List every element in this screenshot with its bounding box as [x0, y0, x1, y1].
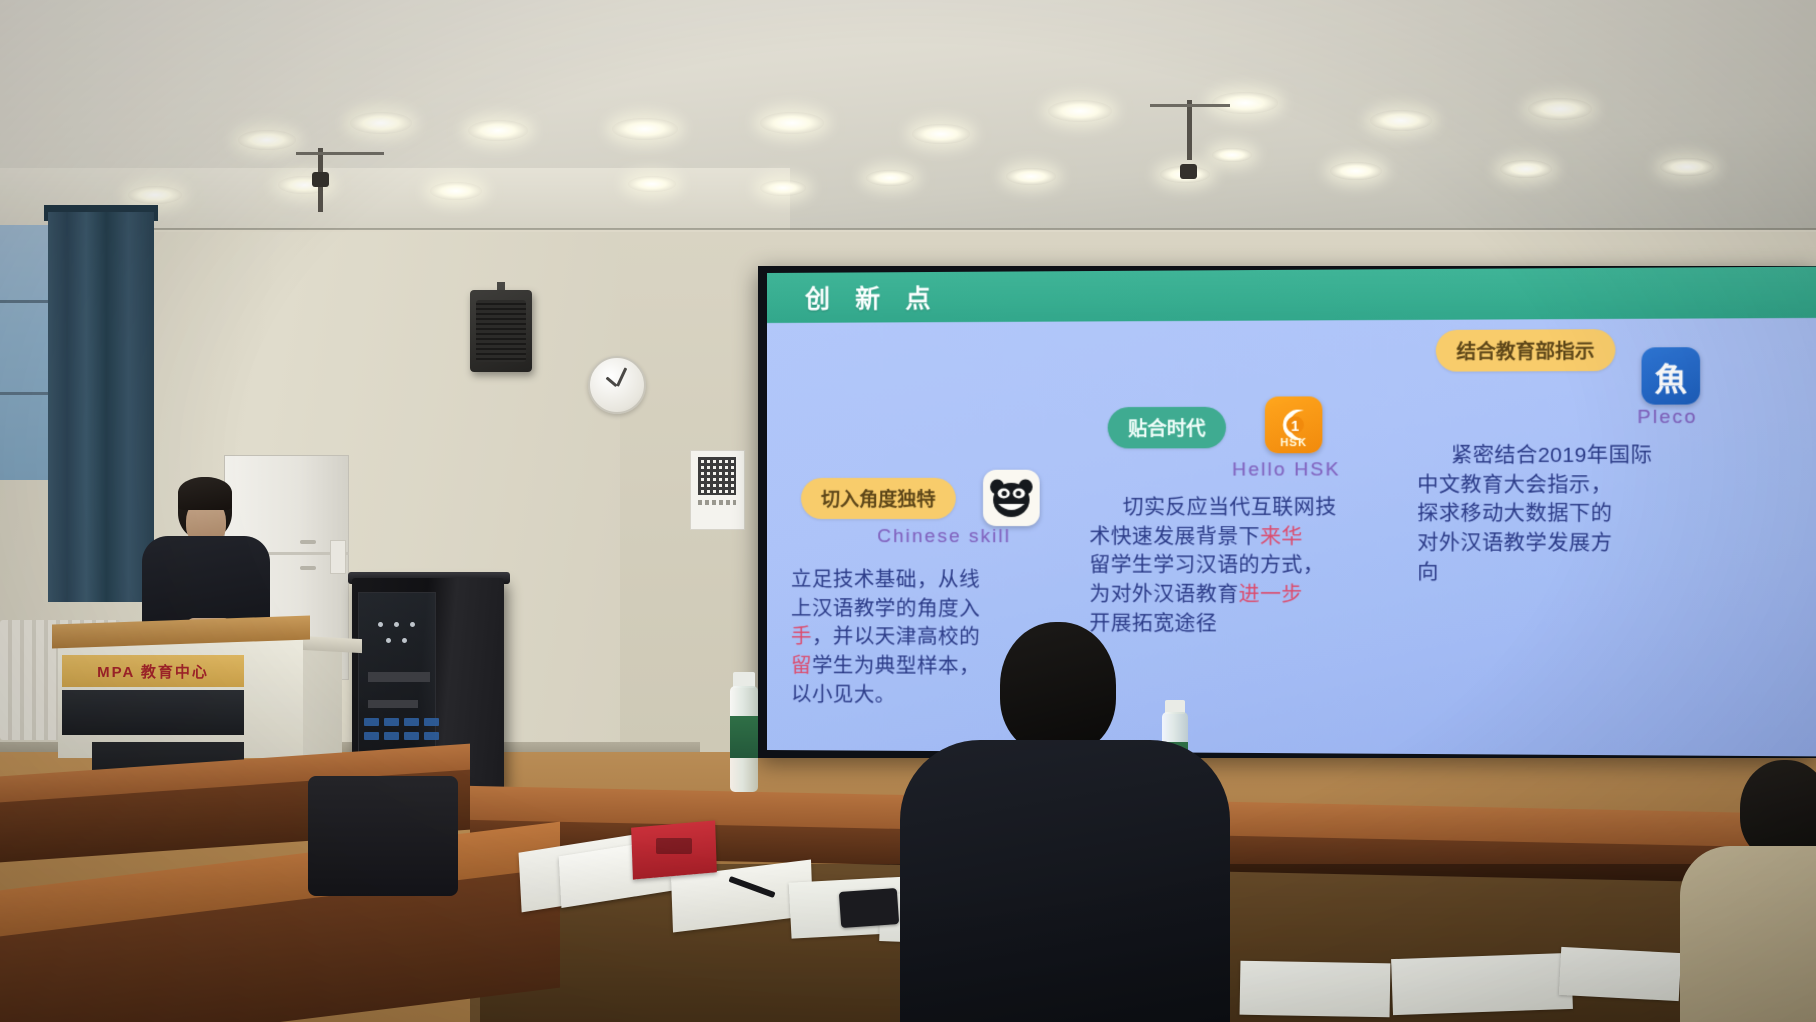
rack-button-4[interactable]: [424, 718, 439, 726]
papers-right-3: [1559, 947, 1681, 1001]
column-2-badge: 贴合时代: [1108, 407, 1226, 449]
rack-button-6[interactable]: [384, 732, 399, 740]
ceiling-light-22: [1660, 158, 1714, 176]
slide-column-2: 贴合时代 1 HSK Hello HSK 切实反应当代互联网技 术快速发展背景下…: [1089, 396, 1396, 639]
ceiling-light-6: [912, 124, 970, 144]
lecture-hall-scene: MPA 教育中心 创 新 点 切入角度独特: [0, 0, 1816, 1022]
rack-device-slot-2: [368, 700, 418, 708]
ceiling-light-10: [1528, 98, 1592, 120]
column-1-badge: 切入角度独特: [801, 478, 956, 519]
presenter-hair-top: [178, 477, 232, 510]
rack-led-2: [394, 622, 399, 627]
column-3-app-label: Pleco: [1637, 407, 1697, 430]
rack-led-1: [378, 622, 383, 627]
panda-app-icon: [983, 470, 1040, 526]
ceiling-light-12: [128, 186, 182, 204]
ceiling-light-2: [350, 112, 412, 134]
clock-hour-hand: [606, 376, 618, 387]
hsk-app-icon: 1 HSK: [1265, 396, 1322, 453]
ceiling-light-4: [612, 118, 678, 140]
rack-button-2[interactable]: [384, 718, 399, 726]
presentation-slide: 创 新 点 切入角度独特: [767, 266, 1816, 756]
ceiling-light-18: [1006, 168, 1056, 185]
ceiling-light-14: [430, 182, 482, 200]
ceiling-light-11: [1212, 148, 1252, 162]
attendee-center-torso: [900, 740, 1230, 1022]
projector-mount-arm-right: [1150, 104, 1230, 107]
clock-minute-hand: [616, 367, 627, 386]
pleco-icon-glyph: 魚: [1655, 353, 1687, 399]
qr-code-icon: [698, 457, 736, 495]
rack-button-7[interactable]: [404, 732, 419, 740]
slide-column-3: 结合教育部指示 魚 Pleco 紧密结合2019年国际 中文教育大会指示， 探求…: [1417, 318, 1740, 588]
attendee-center-head: [1000, 622, 1116, 754]
rack-button-1[interactable]: [364, 718, 379, 726]
svg-text:HSK: HSK: [1280, 437, 1307, 449]
name-card-text: [656, 838, 692, 854]
ceiling-light-9: [1370, 110, 1432, 131]
projector-mount-arm-left: [296, 152, 384, 155]
slide-title-banner: 创 新 点: [767, 266, 1816, 323]
column-3-badge: 结合教育部指示: [1436, 329, 1616, 372]
podium-plaque: MPA 教育中心: [62, 655, 244, 687]
ceiling-light-7: [1048, 100, 1112, 122]
column-1-app-label: Chinese skill: [877, 526, 1011, 548]
ceiling-light-1: [238, 130, 296, 150]
rack-device-slot-1: [368, 672, 430, 682]
projector-mount-head-right: [1180, 164, 1197, 179]
svg-text:1: 1: [1291, 418, 1299, 434]
ceiling-light-3: [468, 120, 528, 141]
rack-led-3: [410, 622, 415, 627]
cabinet-handle-upper[interactable]: [300, 540, 316, 544]
chair-left[interactable]: [308, 776, 458, 896]
projection-screen: 创 新 点 切入角度独特: [758, 266, 1816, 758]
qr-poster-caption: [698, 500, 736, 505]
ceiling-light-21: [1500, 160, 1552, 178]
ceiling-light-20: [1330, 162, 1382, 180]
projector-mount-pole-right: [1187, 100, 1192, 160]
ceiling-light-16: [760, 180, 806, 196]
curtain: [48, 212, 154, 602]
ceiling-light-5: [760, 112, 824, 134]
ceiling-light-15: [628, 176, 676, 192]
pleco-app-icon: 魚: [1642, 347, 1701, 404]
ceiling-light-8: [1212, 92, 1278, 114]
rack-led-5: [402, 638, 407, 643]
rack-button-8[interactable]: [424, 732, 439, 740]
papers-right-2: [1240, 961, 1391, 1018]
column-2-app-label: Hello HSK: [1232, 459, 1340, 481]
rack-button-3[interactable]: [404, 718, 419, 726]
ceiling-light-17: [866, 170, 914, 186]
podium-plaque-text: MPA 教育中心: [97, 661, 209, 682]
rack-button-5[interactable]: [364, 732, 379, 740]
speaker-grille: [476, 300, 526, 362]
wall-clock: [588, 356, 646, 414]
bottle-label-left: [730, 716, 758, 758]
rack-led-4: [386, 638, 391, 643]
slide-title: 创 新 点: [805, 279, 940, 316]
column-3-body: 紧密结合2019年国际 中文教育大会指示， 探求移动大数据下的 对外汉语教学发展…: [1417, 441, 1740, 588]
cabinet-label: [330, 540, 346, 574]
attendee-right-torso: [1680, 846, 1816, 1022]
smartphone[interactable]: [839, 888, 899, 928]
podium-front-panel: [62, 690, 244, 735]
projector-mount-head-left: [312, 172, 329, 187]
cabinet-handle-lower[interactable]: [300, 566, 316, 570]
column-2-body: 切实反应当代互联网技 术快速发展背景下来华 留学生学习汉语的方式， 为对外汉语教…: [1089, 494, 1396, 640]
attendee-right-head: [1740, 760, 1816, 860]
papers-right-1: [1391, 953, 1573, 1015]
